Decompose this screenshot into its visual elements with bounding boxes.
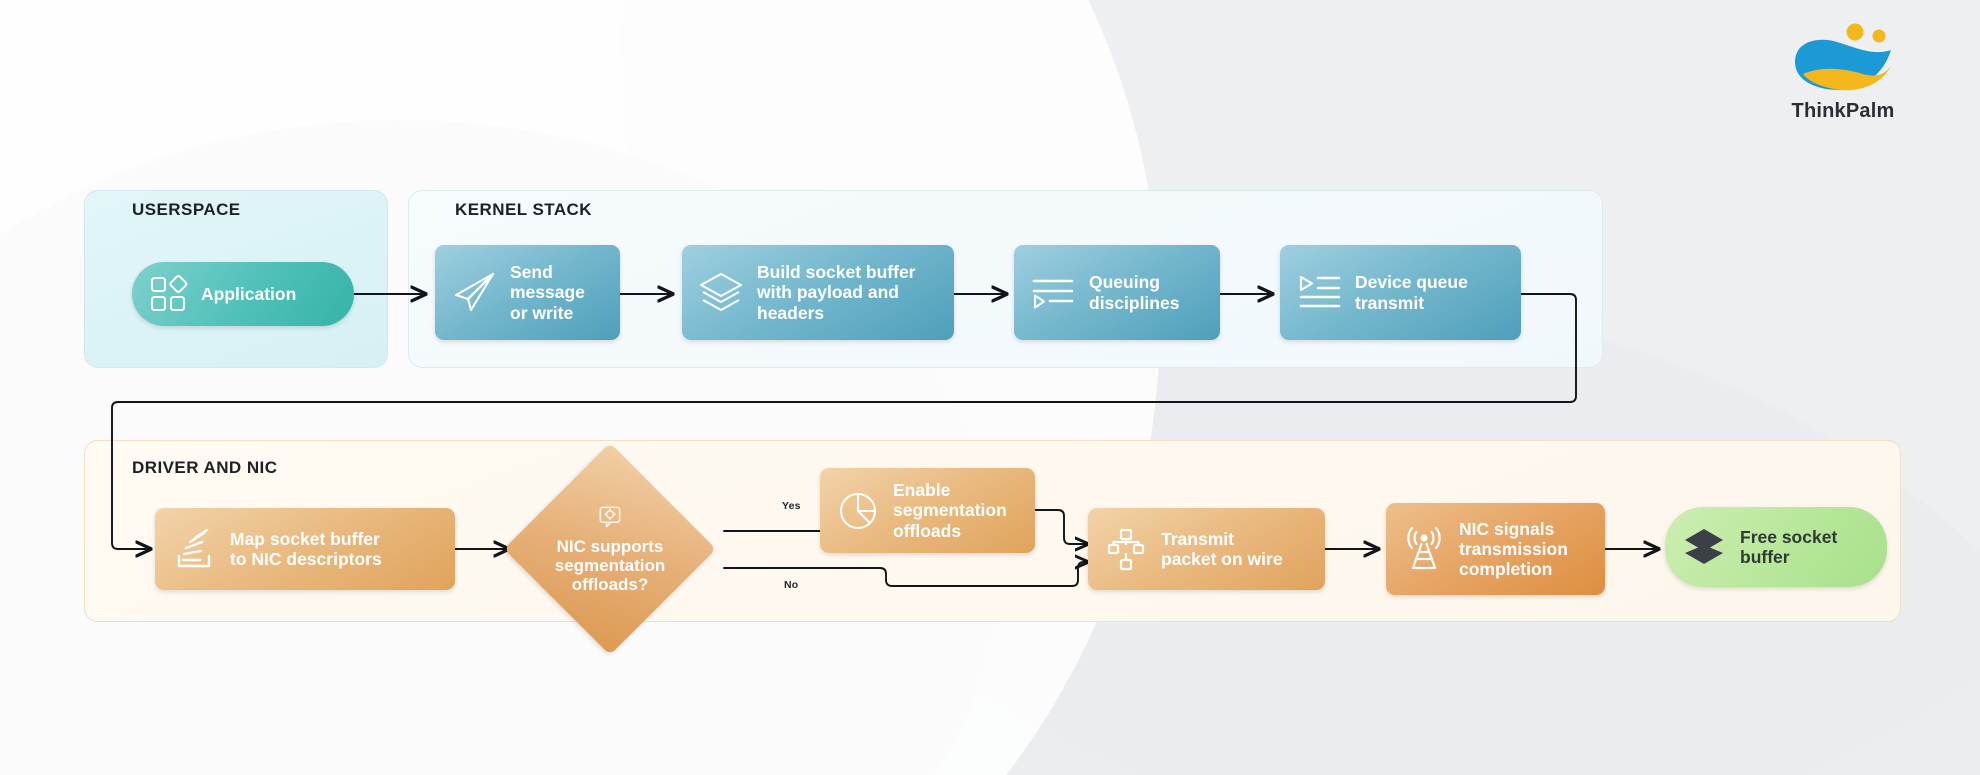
brand-logo: ThinkPalm	[1768, 22, 1918, 123]
node-enable-segmentation-offloads-label: Enable segmentation offloads	[893, 480, 1007, 541]
node-queuing-disciplines[interactable]: Queuing disciplines	[1014, 245, 1220, 340]
node-decision-label: NIC supports segmentation offloads?	[555, 537, 666, 595]
document-tray-icon	[169, 524, 219, 574]
diagram-canvas: USERSPACE KERNEL STACK DRIVER AND NIC	[0, 0, 1980, 775]
chip-settings-icon	[596, 503, 624, 535]
node-free-socket-buffer[interactable]: Free socket buffer	[1665, 507, 1887, 587]
node-transmit-packet-on-wire[interactable]: Transmit packet on wire	[1088, 508, 1325, 590]
edge-enable-offloads-to-transmit-packet	[1035, 510, 1088, 544]
node-device-queue-transmit[interactable]: Device queue transmit	[1280, 245, 1521, 340]
node-nic-supports-segmentation-decision[interactable]: NIC supports segmentation offloads?	[535, 474, 685, 624]
paper-plane-icon	[449, 268, 499, 318]
node-application[interactable]: Application	[132, 262, 354, 326]
network-tree-icon	[1102, 525, 1150, 573]
node-map-socket-buffer-label: Map socket buffer to NIC descriptors	[230, 529, 382, 570]
node-nic-signals-completion-label: NIC signals transmission completion	[1459, 519, 1568, 580]
edge-label-no: No	[784, 579, 798, 591]
broadcast-tower-icon	[1400, 525, 1448, 573]
node-device-queue-transmit-label: Device queue transmit	[1355, 272, 1468, 313]
layers-dark-icon	[1679, 522, 1729, 572]
edge-label-yes: Yes	[782, 500, 801, 512]
brand-name: ThinkPalm	[1768, 100, 1918, 123]
node-application-label: Application	[201, 284, 296, 304]
playlist-queue-icon	[1028, 268, 1078, 318]
connector-layer	[0, 0, 1980, 775]
node-free-socket-buffer-label: Free socket buffer	[1740, 527, 1837, 568]
node-transmit-packet-on-wire-label: Transmit packet on wire	[1161, 529, 1283, 570]
node-map-socket-buffer[interactable]: Map socket buffer to NIC descriptors	[155, 508, 455, 590]
stacked-layers-icon	[696, 268, 746, 318]
node-send-message-label: Send message or write	[510, 262, 585, 323]
shapes-grid-icon	[146, 272, 190, 316]
pie-chart-icon	[834, 487, 882, 535]
thinkpalm-wave-logo-icon	[1787, 22, 1899, 96]
node-nic-signals-completion[interactable]: NIC signals transmission completion	[1386, 503, 1605, 595]
node-build-socket-buffer-label: Build socket buffer with payload and hea…	[757, 262, 916, 323]
node-send-message[interactable]: Send message or write	[435, 245, 620, 340]
node-queuing-disciplines-label: Queuing disciplines	[1089, 272, 1179, 313]
play-list-lines-icon	[1294, 268, 1344, 318]
edge-decision-no-to-transmit-packet	[724, 562, 1088, 586]
node-enable-segmentation-offloads[interactable]: Enable segmentation offloads	[820, 468, 1035, 553]
node-build-socket-buffer[interactable]: Build socket buffer with payload and hea…	[682, 245, 954, 340]
